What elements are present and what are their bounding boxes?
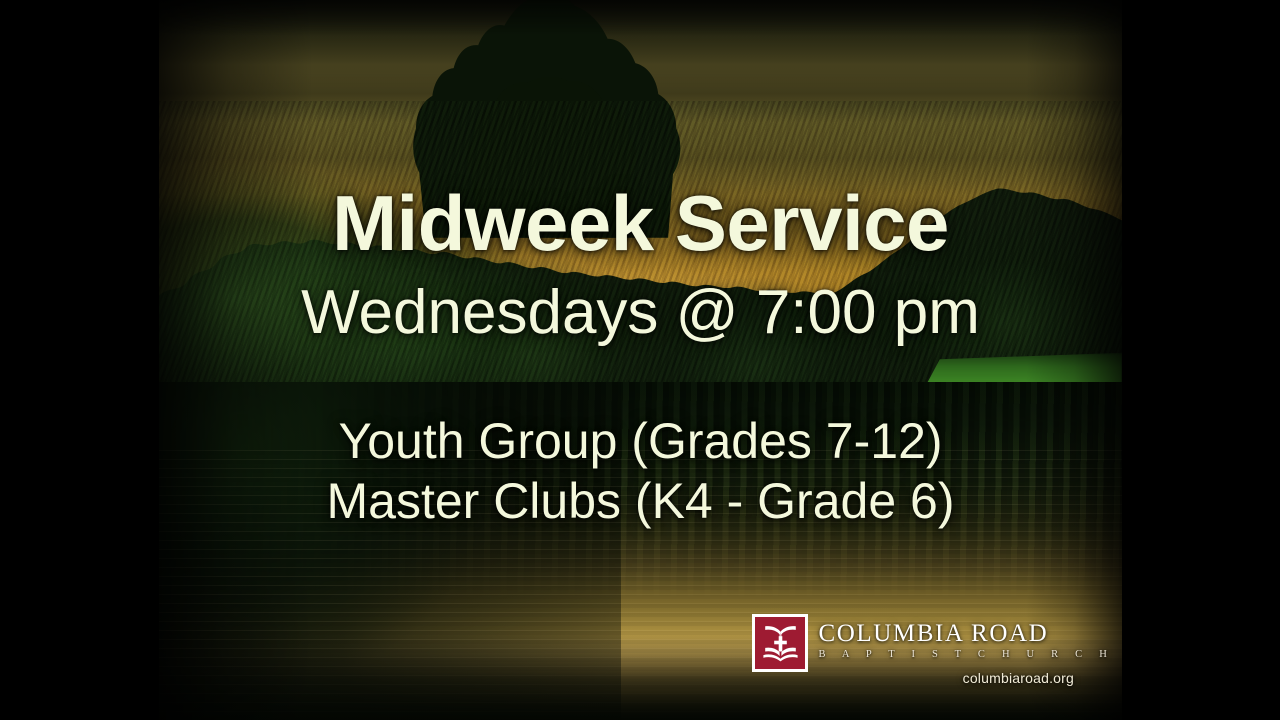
logo-wordmark: COLUMBIA ROAD B A P T I S T C H U R C H <box>818 614 1114 661</box>
screen: Midweek Service Wednesdays @ 7:00 pm You… <box>0 0 1280 720</box>
open-bible-with-cross-icon <box>755 617 805 669</box>
letterbox-bar-right <box>1122 0 1280 720</box>
logo-church-subtitle: B A P T I S T C H U R C H <box>818 650 1114 661</box>
right-vignette <box>1026 0 1122 720</box>
logo-badge-frame <box>752 614 808 672</box>
church-logo: COLUMBIA ROAD B A P T I S T C H U R C H <box>752 614 1114 672</box>
video-slide-frame: Midweek Service Wednesdays @ 7:00 pm You… <box>159 0 1122 720</box>
left-vignette <box>159 0 313 720</box>
logo-website-url: columbiaroad.org <box>963 670 1074 686</box>
top-vignette <box>159 0 1122 36</box>
logo-church-name: COLUMBIA ROAD <box>818 621 1114 646</box>
letterbox-bar-left <box>0 0 159 720</box>
